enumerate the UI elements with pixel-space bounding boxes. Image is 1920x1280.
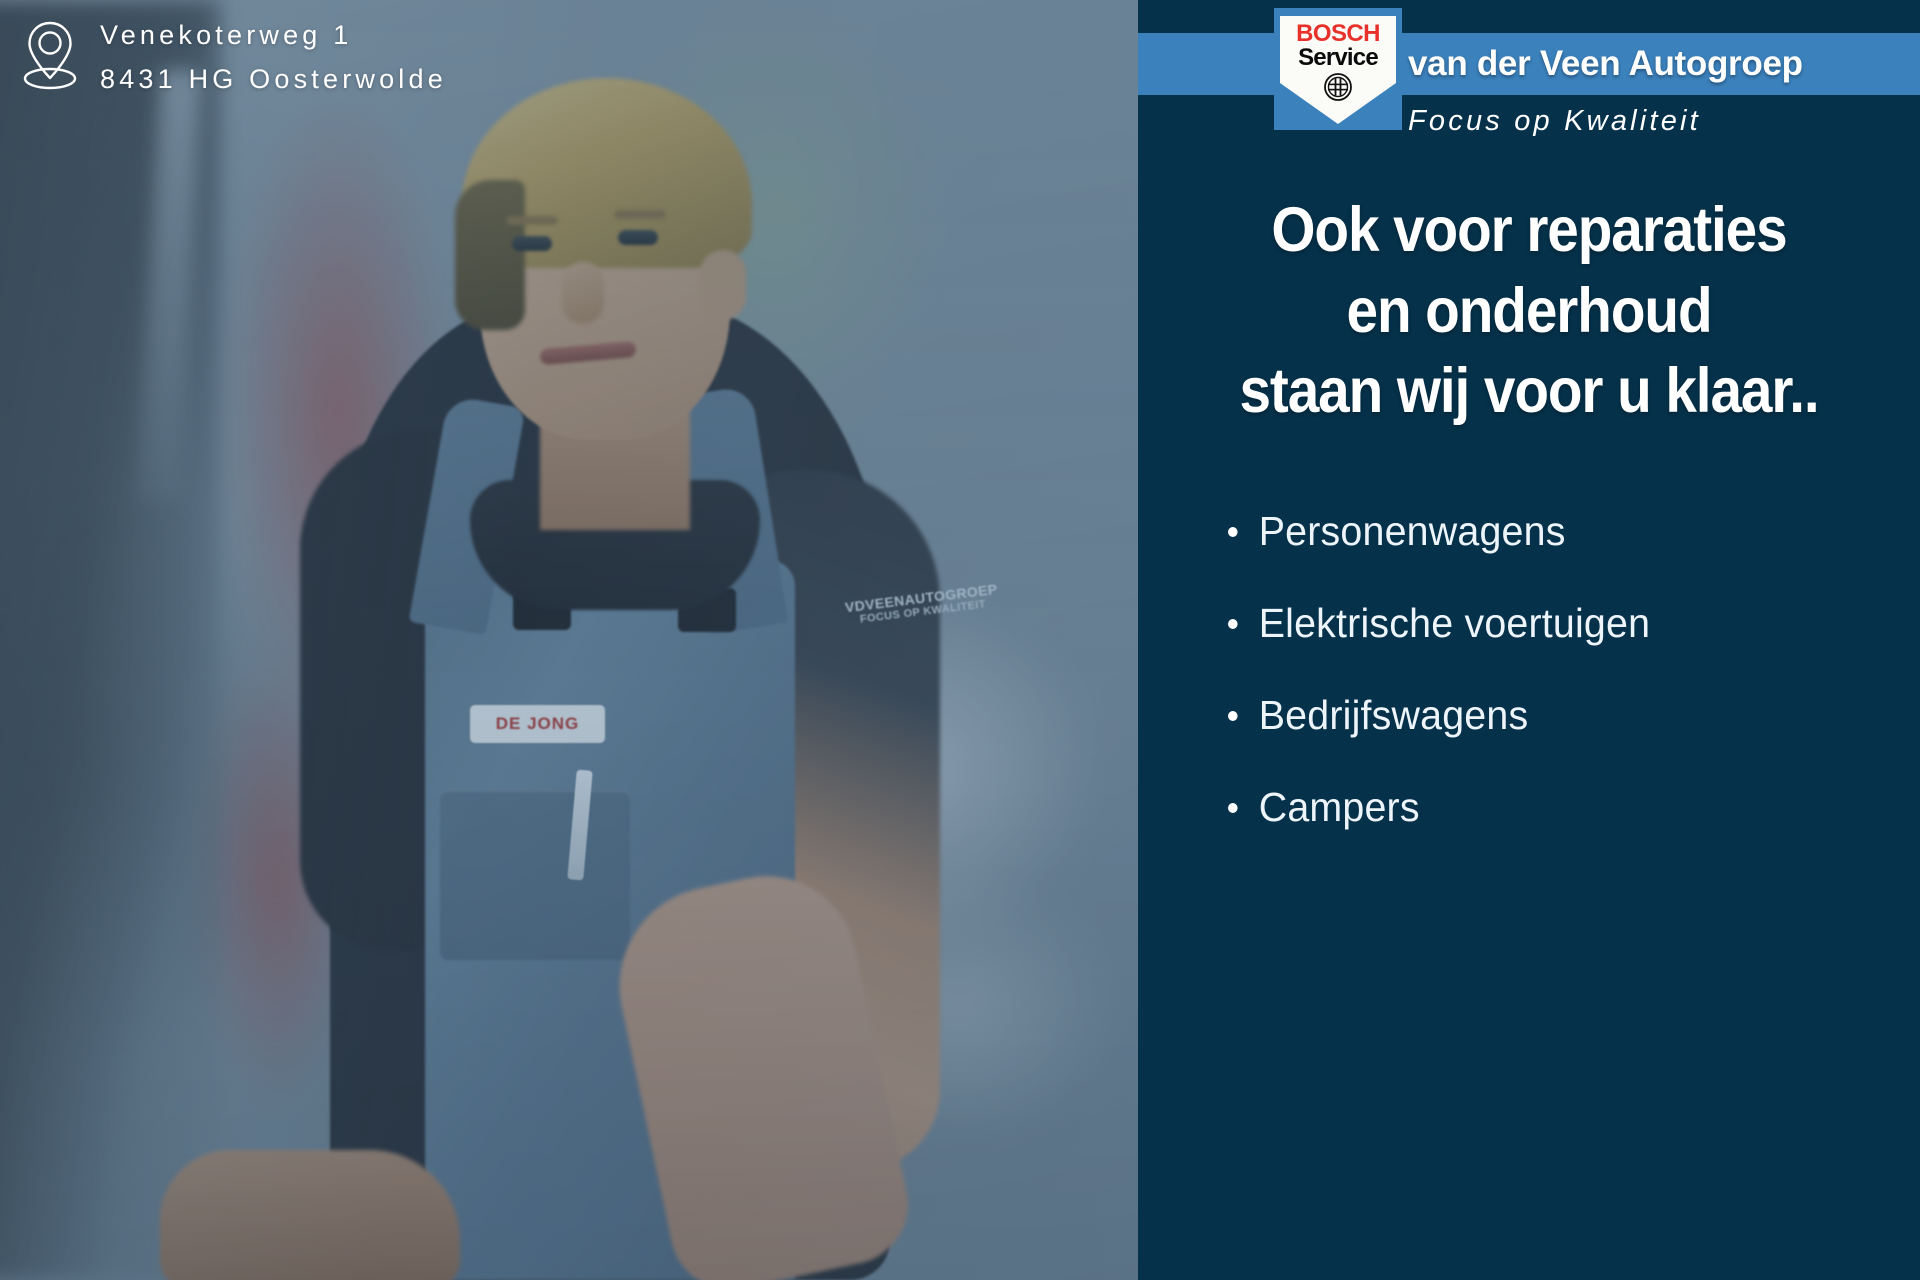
company-name: van der Veen Autogroep: [1408, 33, 1920, 95]
location-pin-icon: [22, 18, 78, 97]
address-lines: Venekoterweg 1 8431 HG Oosterwolde: [100, 14, 447, 101]
mechanic-photo: DE JONG BOSCH Service ⊕ VDVEENAUTOGROEP …: [0, 0, 1138, 1280]
address-line-city: 8431 HG Oosterwolde: [100, 58, 447, 102]
service-label: Campers: [1259, 786, 1420, 829]
bullet-dot-icon: [1228, 803, 1238, 813]
list-item: Personenwagens: [1228, 510, 1862, 553]
service-label: Elektrische voertuigen: [1259, 602, 1650, 645]
headline-line-1: Ook voor reparaties: [1177, 190, 1881, 271]
headline: Ook voor reparaties en onderhoud staan w…: [1177, 190, 1881, 432]
bosch-armature-icon: [1323, 72, 1353, 107]
bullet-dot-icon: [1228, 711, 1238, 721]
address-block: Venekoterweg 1 8431 HG Oosterwolde: [22, 14, 447, 101]
bosch-logo-service: Service: [1298, 46, 1378, 70]
bosch-shield-shape: BOSCH Service: [1280, 16, 1396, 124]
service-label: Personenwagens: [1259, 510, 1566, 553]
list-item: Campers: [1228, 786, 1862, 829]
bullet-dot-icon: [1228, 527, 1238, 537]
headline-line-3: staan wij voor u klaar..: [1177, 351, 1881, 432]
list-item: Elektrische voertuigen: [1228, 602, 1862, 645]
services-list: Personenwagens Elektrische voertuigen Be…: [1228, 510, 1888, 878]
bosch-logo-word: BOSCH: [1296, 21, 1380, 46]
company-tagline: Focus op Kwaliteit: [1408, 105, 1701, 138]
list-item: Bedrijfswagens: [1228, 694, 1862, 737]
address-line-street: Venekoterweg 1: [100, 14, 447, 58]
bosch-service-logo: BOSCH Service: [1274, 8, 1402, 130]
info-panel: BOSCH Service van der Veen Autogroep Foc…: [1138, 0, 1920, 1280]
photo-haze-overlay: [0, 0, 1138, 1280]
service-label: Bedrijfswagens: [1259, 694, 1529, 737]
advertisement-banner: DE JONG BOSCH Service ⊕ VDVEENAUTOGROEP …: [0, 0, 1920, 1280]
bullet-dot-icon: [1228, 619, 1238, 629]
headline-line-2: en onderhoud: [1177, 271, 1881, 352]
